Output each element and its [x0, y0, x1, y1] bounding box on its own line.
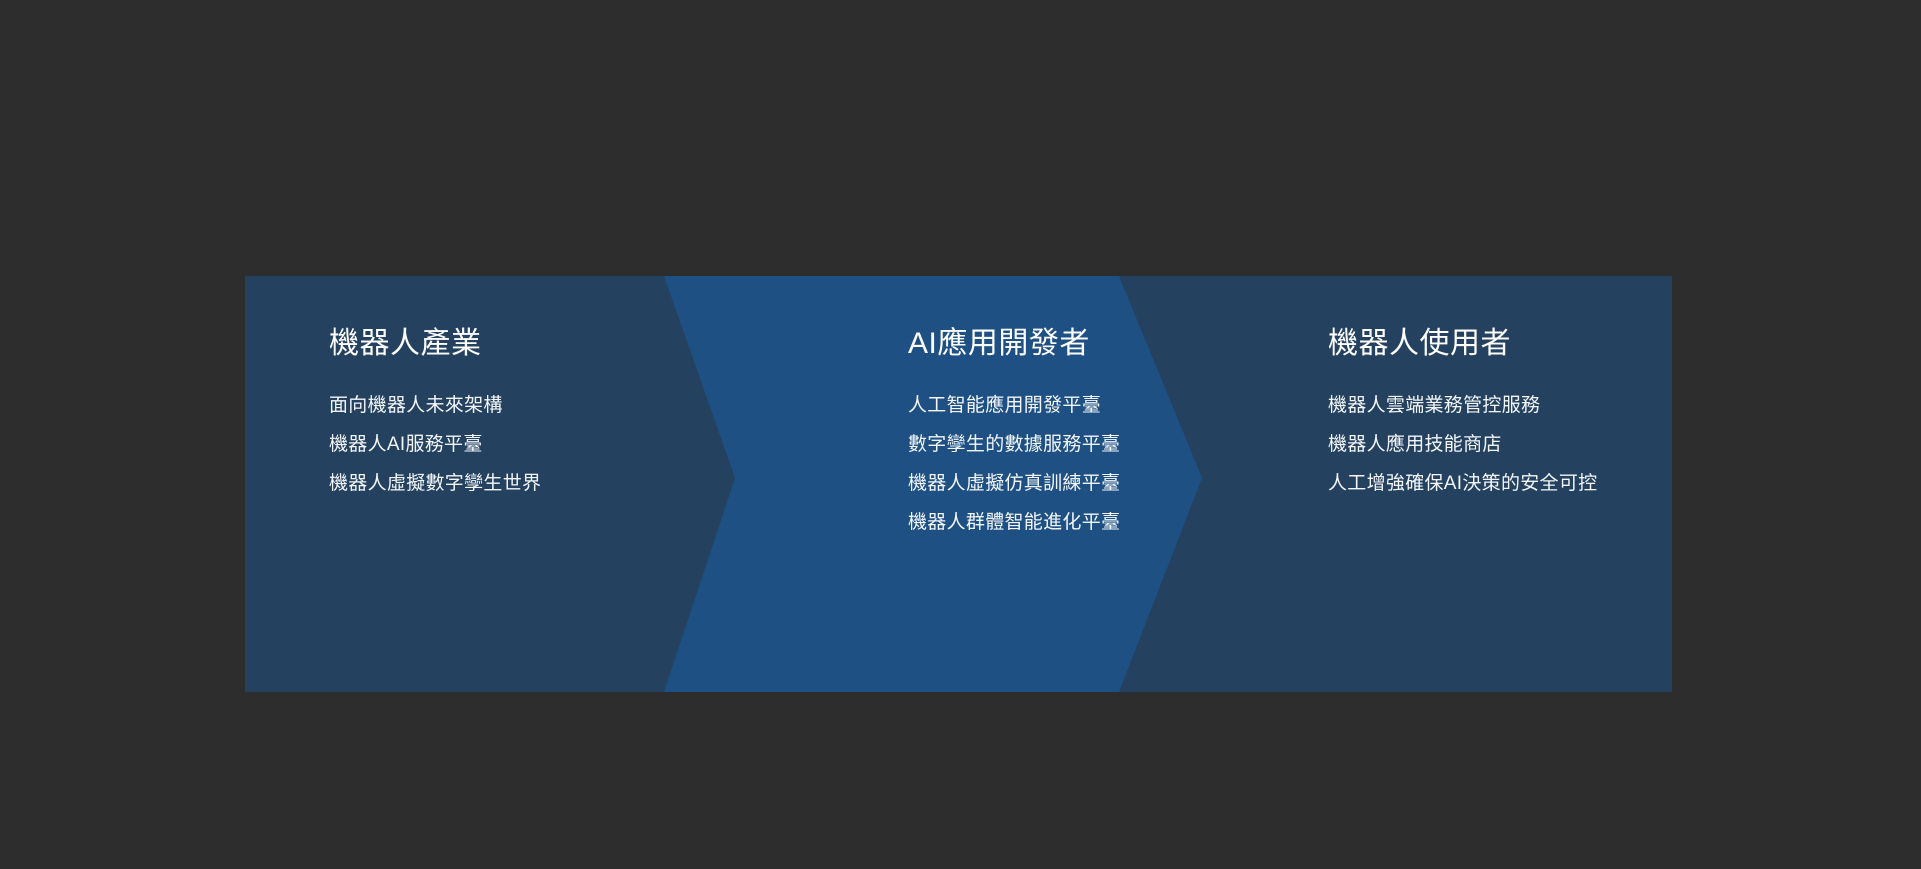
panel-item-list: 面向機器人未來架構 機器人AI服務平臺 機器人虛擬數字孿生世界: [329, 386, 541, 503]
panel-robot-industry: 機器人產業 面向機器人未來架構 機器人AI服務平臺 機器人虛擬數字孿生世界: [245, 276, 675, 692]
list-item: 機器人虛擬仿真訓練平臺: [908, 464, 1120, 503]
panel-item-list: 人工智能應用開發平臺 數字孿生的數據服務平臺 機器人虛擬仿真訓練平臺 機器人群體…: [908, 386, 1120, 542]
panel-title: 機器人產業: [329, 326, 482, 362]
chevron-banner: 機器人產業 面向機器人未來架構 機器人AI服務平臺 機器人虛擬數字孿生世界 AI…: [245, 276, 1672, 692]
list-item: 面向機器人未來架構: [329, 386, 541, 425]
list-item: 機器人雲端業務管控服務: [1328, 386, 1597, 425]
list-item: 機器人AI服務平臺: [329, 425, 541, 464]
list-item: 數字孿生的數據服務平臺: [908, 425, 1120, 464]
panel-title: AI應用開發者: [908, 326, 1090, 362]
list-item: 機器人群體智能進化平臺: [908, 503, 1120, 542]
panel-ai-app-developer: AI應用開發者 人工智能應用開發平臺 數字孿生的數據服務平臺 機器人虛擬仿真訓練…: [823, 276, 1253, 692]
list-item: 人工增強確保AI決策的安全可控: [1328, 464, 1597, 503]
panel-title: 機器人使用者: [1328, 326, 1511, 362]
list-item: 機器人虛擬數字孿生世界: [329, 464, 541, 503]
panel-robot-user: 機器人使用者 機器人雲端業務管控服務 機器人應用技能商店 人工增強確保AI決策的…: [1276, 276, 1672, 692]
panel-item-list: 機器人雲端業務管控服務 機器人應用技能商店 人工增強確保AI決策的安全可控: [1328, 386, 1597, 503]
list-item: 機器人應用技能商店: [1328, 425, 1597, 464]
list-item: 人工智能應用開發平臺: [908, 386, 1120, 425]
